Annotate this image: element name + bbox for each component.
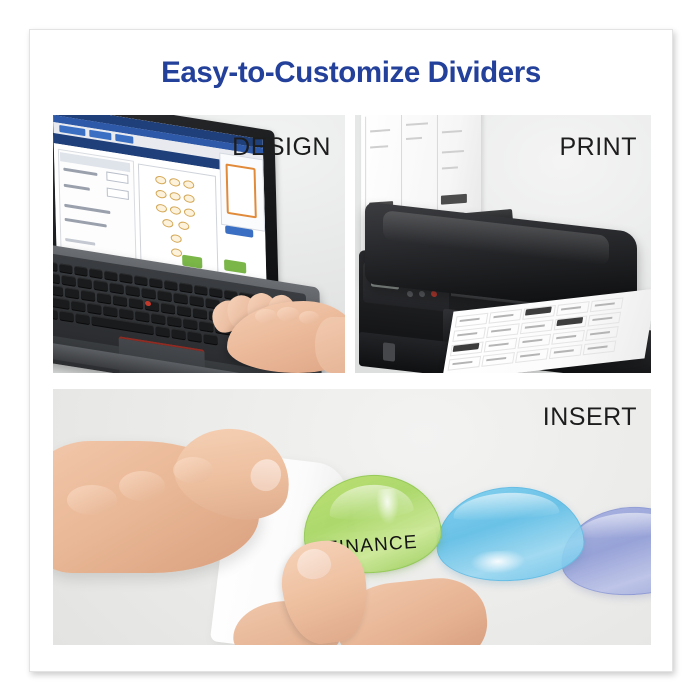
canvas-tab-preview — [170, 206, 181, 216]
canvas-tab-preview — [171, 234, 182, 244]
canvas-tab-preview — [162, 218, 173, 228]
canvas-tab-preview — [183, 180, 194, 190]
canvas-tab-preview — [184, 208, 195, 218]
divider-tab-green-specular — [373, 488, 402, 534]
screen-toolbar-tab — [115, 134, 133, 144]
canvas-tab-preview — [155, 175, 166, 185]
printer-button — [407, 291, 413, 298]
panel-print: PRINT — [355, 115, 651, 373]
canvas-tab-preview — [183, 194, 194, 204]
printer-usb-port — [383, 342, 395, 361]
canvas-tab-preview — [156, 203, 167, 213]
canvas-tab-preview — [169, 192, 180, 202]
hand-typing — [203, 293, 345, 373]
panel-insert: FINANCE INSERT — [53, 389, 651, 645]
page-title: Easy-to-Customize Dividers — [30, 56, 672, 90]
panel-design: DESIGN — [53, 115, 345, 373]
canvas-tab-preview — [169, 177, 180, 187]
laptop-trackpoint — [145, 301, 151, 307]
panel-label-design: DESIGN — [232, 133, 331, 162]
hand-lower-inserting-tab — [225, 537, 475, 645]
canvas-tab-preview — [156, 189, 167, 199]
panel-label-insert: INSERT — [543, 403, 637, 432]
canvas-tab-preview — [171, 248, 182, 258]
canvas-tab-preview — [178, 221, 189, 231]
panel-label-print: PRINT — [560, 133, 638, 162]
screen-sheet-preview — [226, 163, 257, 218]
divider-tab-purple-highlight — [576, 510, 651, 539]
printer-button — [419, 291, 425, 298]
product-image-card: Easy-to-Customize Dividers — [29, 29, 673, 672]
